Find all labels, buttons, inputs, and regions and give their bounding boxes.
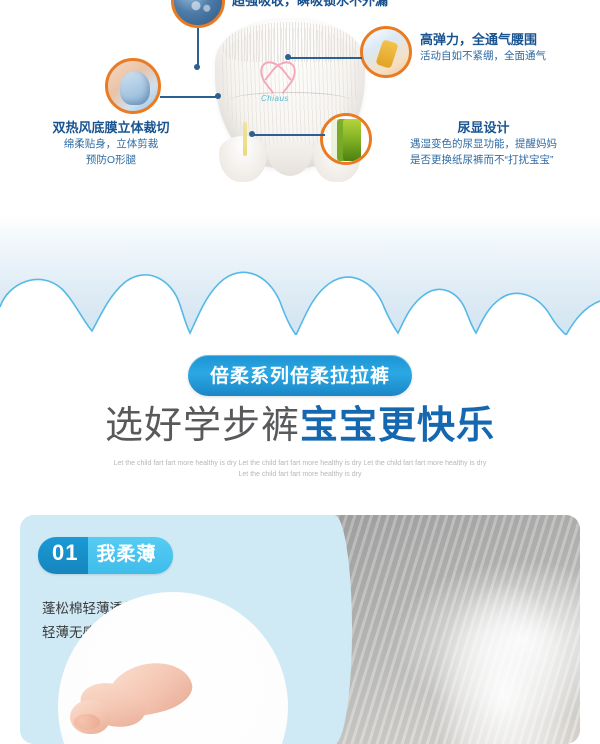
callout-bottom-right-line1: 遇湿变色的尿显功能，提醒妈妈 xyxy=(410,137,557,153)
brand-logo-text: Chiaus xyxy=(261,94,289,103)
headline-subtext: Let the child fart fart more healthy is … xyxy=(0,458,600,480)
callout-bottom-right-title: 尿显设计 xyxy=(410,120,557,137)
connector-line-bottom xyxy=(253,134,325,136)
wave-shape xyxy=(0,265,600,335)
callout-bottom-left-title: 双热风底膜立体裁切 xyxy=(16,120,206,137)
diaper-seam xyxy=(229,92,351,109)
callout-top-title: 超强吸收，瞬吸锁水不外漏 xyxy=(232,0,388,9)
headline-blue-part: 宝宝更快乐 xyxy=(300,405,495,447)
feature-badge-number: 01 xyxy=(38,537,88,574)
subtext-line-1: Let the child fart fart more healthy is … xyxy=(0,458,600,469)
connector-line-top xyxy=(197,28,199,68)
callout-bottom-left-line2: 预防O形腿 xyxy=(16,153,206,169)
callout-bottom-right-line2: 是否更换纸尿裤而不“打扰宝宝” xyxy=(410,153,557,169)
connector-dot-left xyxy=(215,93,221,99)
wetness-indicator-strip xyxy=(243,122,247,156)
3d-cut-icon xyxy=(105,58,161,114)
connector-line-left xyxy=(160,96,218,98)
callout-top-right-line1: 活动自如不紧绷，全面通气 xyxy=(420,49,546,65)
connector-dot-right xyxy=(285,54,291,60)
callout-bottom-right: 尿显设计 遇湿变色的尿显功能，提醒妈妈 是否更换纸尿裤而不“打扰宝宝” xyxy=(410,120,557,168)
wetness-indicator-icon xyxy=(320,113,372,165)
feature-badge-label: 我柔薄 xyxy=(88,537,172,574)
feature-card-01: 01 我柔薄 蓬松棉轻薄透气，呵护宝宝 轻薄无感透气性更好。 xyxy=(20,515,580,744)
product-feature-section: Chiaus 超强吸收，瞬吸锁水不外漏 双热风底膜立体裁切 绵柔贴身，立体剪裁 … xyxy=(0,0,600,215)
callout-bottom-left: 双热风底膜立体裁切 绵柔贴身，立体剪裁 预防O形腿 xyxy=(16,120,206,168)
feature-card-section: 01 我柔薄 蓬松棉轻薄透气，呵护宝宝 轻薄无感透气性更好。 xyxy=(0,490,600,744)
elastic-waistband-icon xyxy=(360,26,412,78)
page-headline: 选好学步裤宝宝更快乐 xyxy=(0,404,600,450)
callout-top-right: 高弹力，全通气腰围 活动自如不紧绷，全面通气 xyxy=(420,32,546,65)
connector-line-right xyxy=(290,57,362,59)
fabric-texture-photo xyxy=(320,515,580,744)
heart-logo-icon xyxy=(261,54,301,90)
series-pill-badge: 倍柔系列倍柔拉拉裤 xyxy=(188,355,412,396)
connector-dot-bottom xyxy=(249,131,255,137)
title-section: 倍柔系列倍柔拉拉裤 选好学步裤宝宝更快乐 Let the child fart … xyxy=(0,335,600,490)
feature-badge: 01 我柔薄 xyxy=(38,537,173,574)
wave-divider-section xyxy=(0,215,600,335)
callout-bottom-left-line1: 绵柔贴身，立体剪裁 xyxy=(16,137,206,153)
baby-foot-left xyxy=(70,700,110,734)
subtext-line-2: Let the child fart fart more healthy is … xyxy=(0,469,600,480)
diaper-crotch xyxy=(267,142,313,176)
connector-dot-top xyxy=(194,64,200,70)
callout-top-right-title: 高弹力，全通气腰围 xyxy=(420,32,546,49)
headline-grey-part: 选好学步裤 xyxy=(105,405,300,447)
